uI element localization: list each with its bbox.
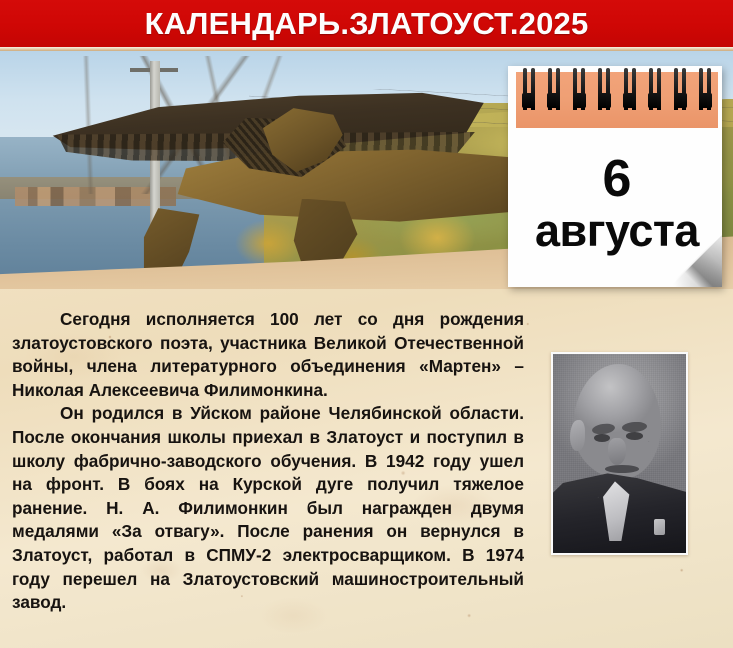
article-paragraph-2: Он родился в Уйском районе Челябинской о…: [12, 402, 524, 614]
spiral-ring-icon: [598, 66, 611, 110]
calendar-day-number: 6: [603, 153, 632, 205]
spiral-ring-icon: [648, 66, 661, 110]
spiral-ring-icon: [699, 66, 712, 110]
calendar-date-block: 6 августа: [516, 128, 718, 279]
calendar-month-name: августа: [535, 207, 699, 254]
portrait-film-grain: [553, 354, 686, 553]
spiral-ring-icon: [547, 66, 560, 110]
tear-off-calendar[interactable]: 6 августа: [508, 66, 722, 287]
calendar-page: КАЛЕНДАРЬ.ЗЛАТОУСТ.2025: [0, 0, 733, 648]
banner-underline: [0, 47, 733, 51]
portrait-frame: [551, 352, 688, 555]
page-banner: КАЛЕНДАРЬ.ЗЛАТОУСТ.2025: [0, 0, 733, 47]
portrait-photo: [553, 354, 686, 553]
calendar-spiral-rings: [516, 66, 718, 112]
article-paragraph-1: Сегодня исполняется 100 лет со дня рожде…: [12, 308, 524, 402]
spiral-ring-icon: [573, 66, 586, 110]
article-text: Сегодня исполняется 100 лет со дня рожде…: [12, 308, 524, 615]
spiral-ring-icon: [674, 66, 687, 110]
spiral-ring-icon: [522, 66, 535, 110]
banner-title: КАЛЕНДАРЬ.ЗЛАТОУСТ.2025: [145, 6, 589, 42]
spiral-ring-icon: [623, 66, 636, 110]
